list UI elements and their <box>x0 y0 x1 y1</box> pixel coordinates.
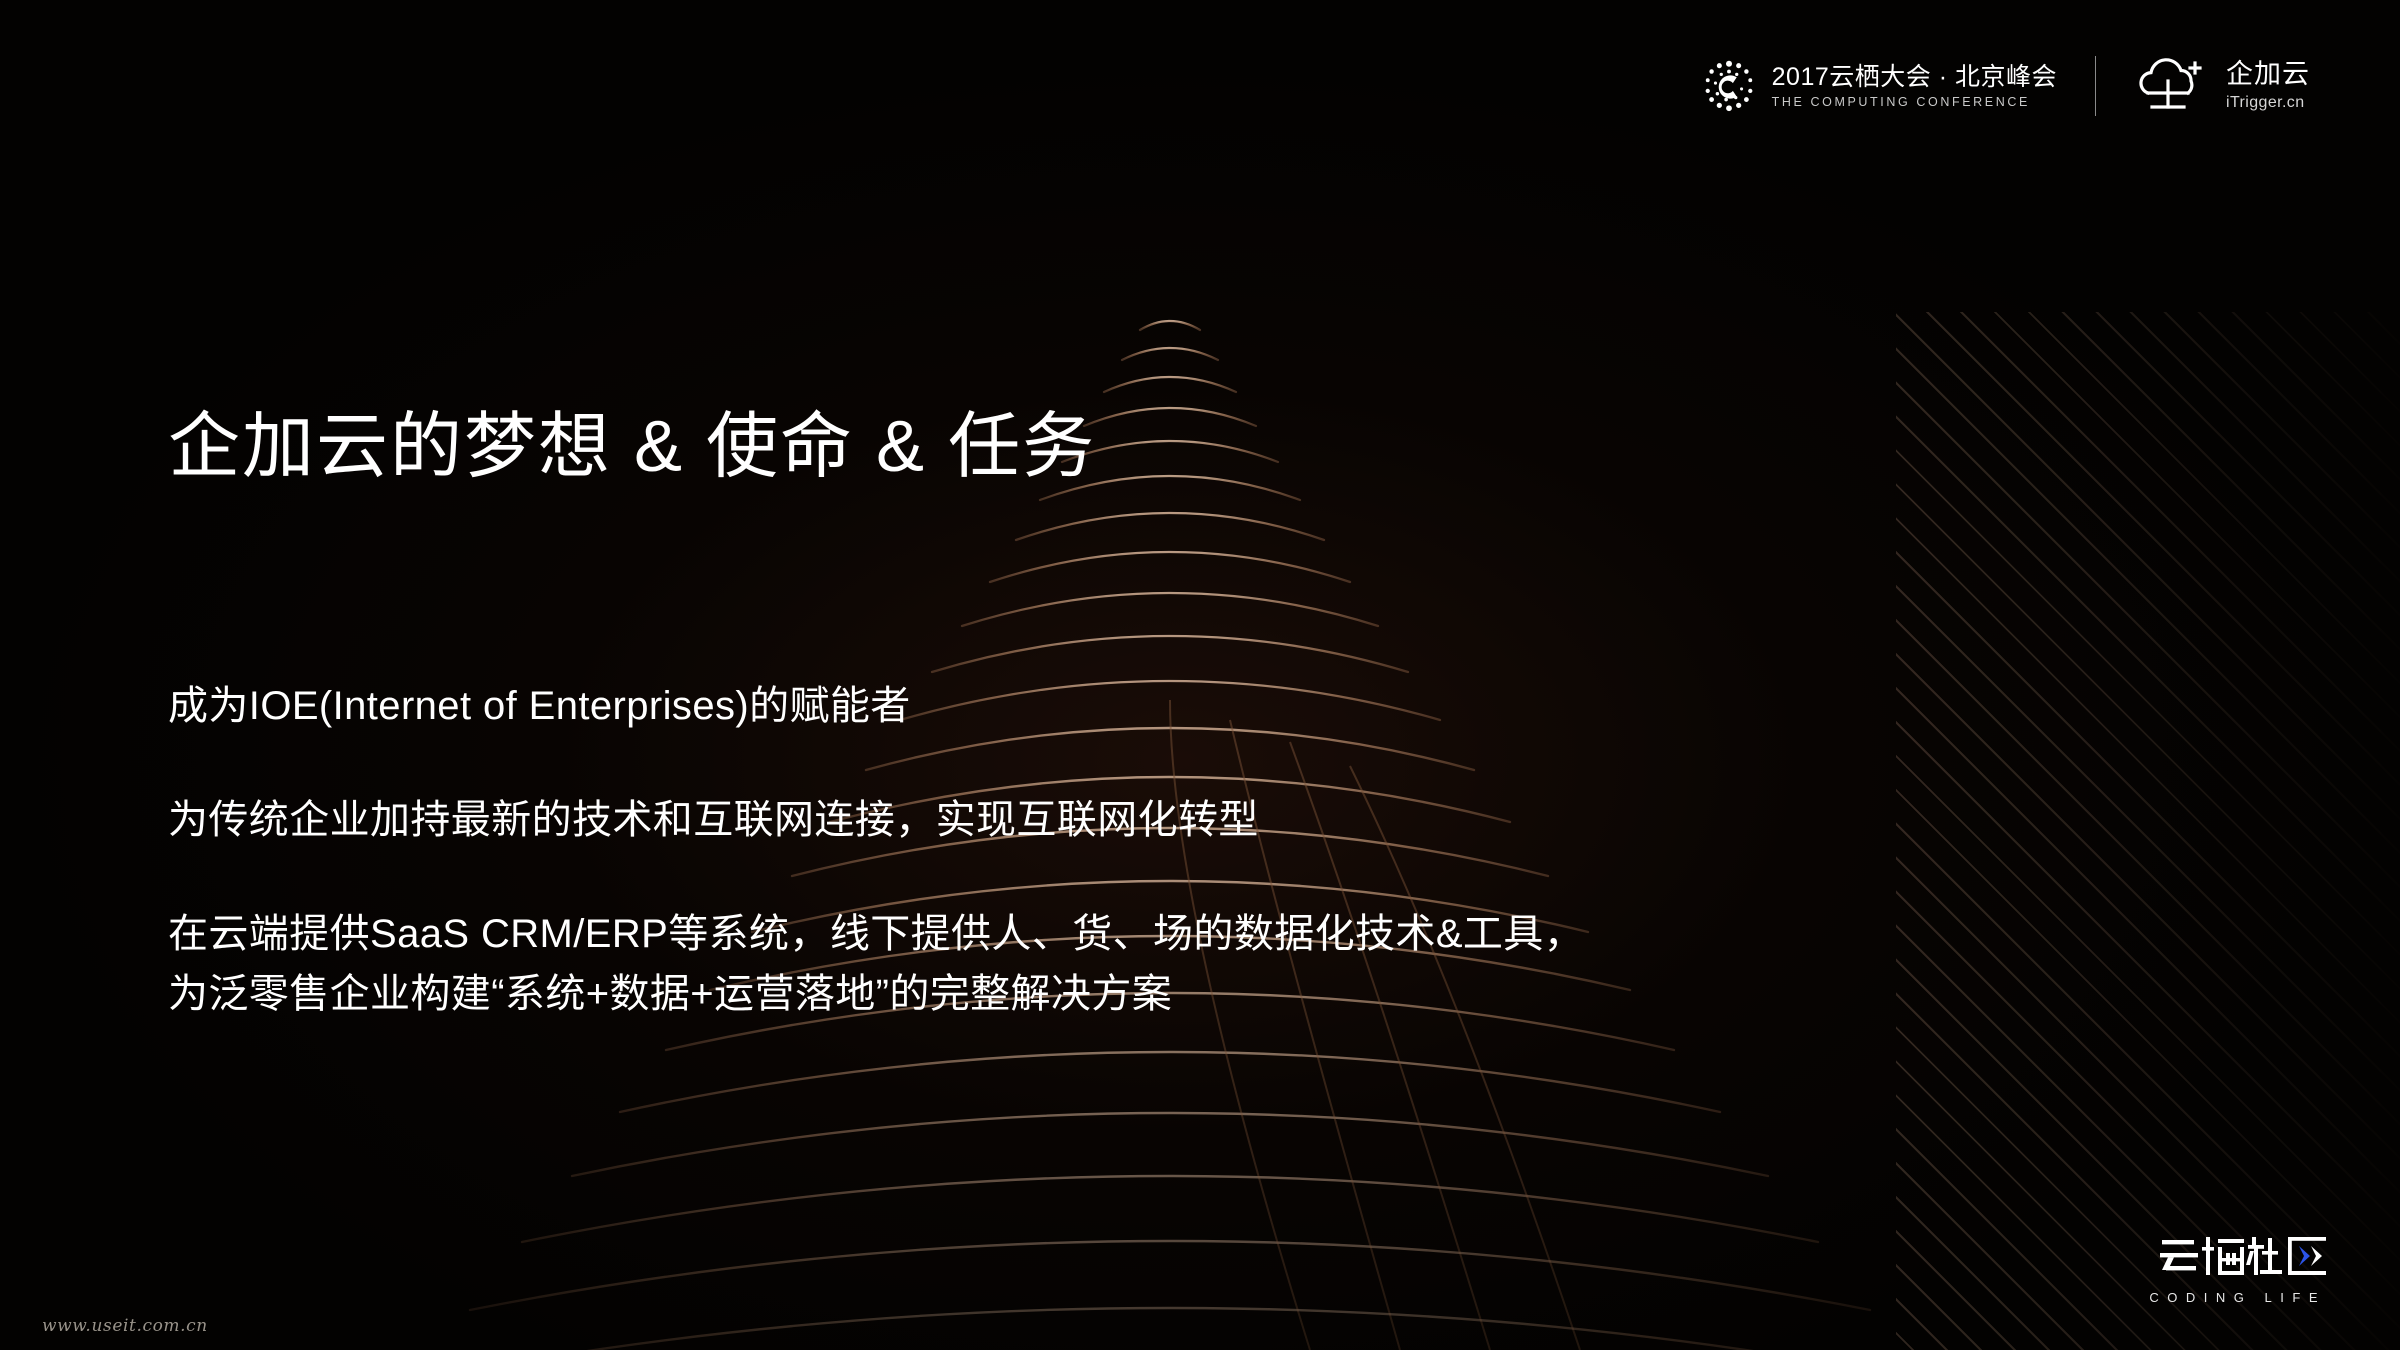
body-paragraph-1: 成为IOE(Internet of Enterprises)的赋能者 <box>168 680 1868 732</box>
body-paragraph-3-line-1: 在云端提供SaaS CRM/ERP等系统，线下提供人、货、场的数据化技术&工具， <box>168 908 1868 960</box>
brand-url: iTrigger.cn <box>2226 94 2310 112</box>
diagonal-hatch-panel <box>1896 312 2400 1350</box>
body-paragraph-3-line-2: 为泛零售企业构建“系统+数据+运营落地”的完整解决方案 <box>168 968 1868 1020</box>
conference-logo-text: 2017云栖大会 · 北京峰会 THE COMPUTING CONFERENCE <box>1772 63 2057 110</box>
yunqi-community-icon <box>2160 1233 2328 1283</box>
header-logo-group: 2017云栖大会 · 北京峰会 THE COMPUTING CONFERENCE… <box>1700 48 2310 124</box>
brand-name: 企加云 <box>2226 60 2310 90</box>
conference-logo: 2017云栖大会 · 北京峰会 THE COMPUTING CONFERENCE <box>1700 57 2057 115</box>
conference-title-cn: 2017云栖大会 · 北京峰会 <box>1772 63 2057 91</box>
cloud-plus-icon <box>2134 57 2210 115</box>
community-logo: CODING LIFE <box>2149 1233 2328 1305</box>
brand-logo-text: 企加云 iTrigger.cn <box>2226 60 2310 113</box>
slide-canvas: 2017云栖大会 · 北京峰会 THE COMPUTING CONFERENCE… <box>0 0 2400 1350</box>
slide-title: 企加云的梦想 & 使命 & 任务 <box>168 406 1096 489</box>
community-tagline: CODING LIFE <box>2149 1290 2326 1305</box>
source-watermark: www.useit.com.cn <box>42 1316 208 1336</box>
slide-body: 成为IOE(Internet of Enterprises)的赋能者 为传统企业… <box>168 640 1868 1060</box>
body-paragraph-2: 为传统企业加持最新的技术和互联网连接，实现互联网化转型 <box>168 794 1868 846</box>
logo-divider <box>2095 56 2096 116</box>
brand-logo: 企加云 iTrigger.cn <box>2134 57 2310 115</box>
conference-title-en: THE COMPUTING CONFERENCE <box>1772 95 2057 110</box>
dotted-circle-c-icon <box>1700 57 1758 115</box>
body-paragraph-3: 在云端提供SaaS CRM/ERP等系统，线下提供人、货、场的数据化技术&工具，… <box>168 908 1868 1020</box>
